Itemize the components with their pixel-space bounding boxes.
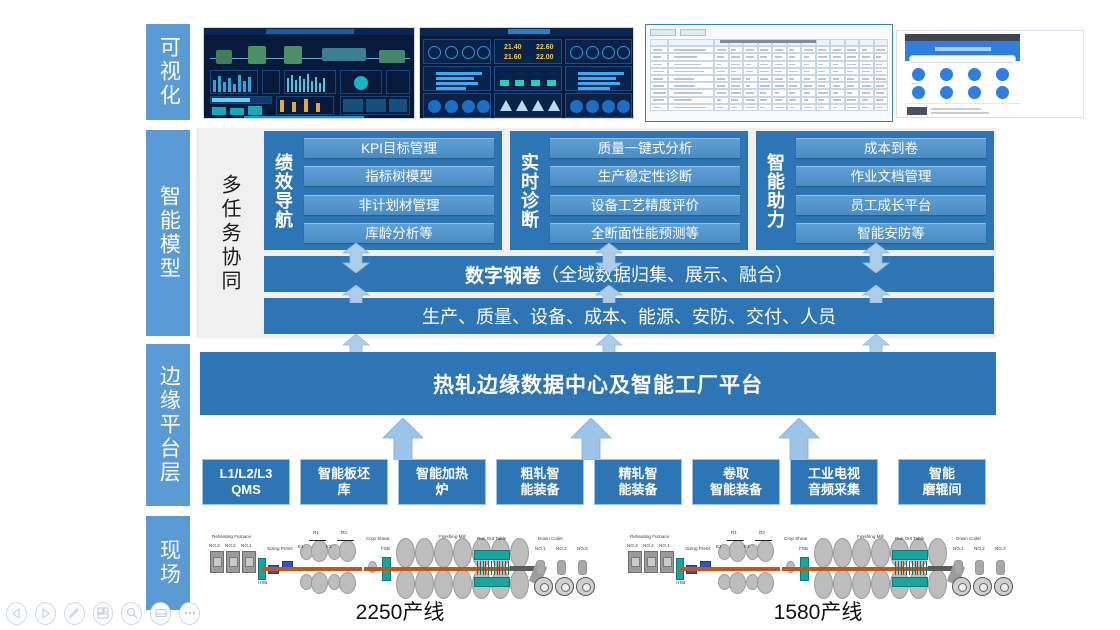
- table-cell: [816, 61, 831, 68]
- table-cell: [668, 82, 714, 89]
- arrow-up-equipment-2: [570, 418, 612, 460]
- previous-slide-button[interactable]: [6, 602, 27, 625]
- arrow-up-right-lower: [862, 334, 890, 354]
- table-cell: [816, 82, 831, 89]
- table-cell: [729, 82, 744, 89]
- rot-spray: [917, 561, 918, 575]
- table-cell: [801, 82, 816, 89]
- table-cell: [787, 89, 802, 96]
- table-cell: [830, 104, 845, 111]
- arrow-up-center-mid: [595, 285, 623, 303]
- line-label: Sizing Press: [685, 546, 711, 551]
- table-cell: [743, 53, 758, 60]
- rot-spray: [483, 561, 484, 575]
- equipment-label: 智能 磨辊间: [922, 466, 961, 499]
- table-cell: [714, 75, 729, 82]
- table-cell: [859, 104, 874, 111]
- table-cell: [801, 89, 816, 96]
- table-cell: [772, 53, 787, 60]
- rot-spray: [497, 561, 498, 575]
- table-cell: [668, 39, 714, 46]
- table-cell: [772, 89, 787, 96]
- table-cell: [743, 89, 758, 96]
- edge-platform-band[interactable]: 热轧边缘数据中心及智能工厂平台: [200, 352, 996, 415]
- finishing-stand-top: [852, 538, 871, 568]
- arrow-up-right-mid: [862, 285, 890, 303]
- table-cell: [772, 104, 787, 111]
- table-cell: [830, 61, 845, 68]
- table-cell: [650, 46, 668, 53]
- table-cell: [787, 82, 802, 89]
- thumb-web-portal[interactable]: [896, 30, 1084, 118]
- module-item[interactable]: 库龄分析等: [304, 223, 494, 243]
- table-cell: [874, 82, 889, 89]
- module-item[interactable]: 智能安防等: [796, 223, 986, 243]
- table-cell: [859, 46, 874, 53]
- table-cell: [830, 68, 845, 75]
- table-cell: [650, 68, 668, 75]
- table-title: [720, 40, 816, 43]
- finishing-stand-top: [510, 538, 529, 568]
- slide-root: 可视化 智能模型 边缘平台层 现场: [0, 0, 1120, 630]
- table-cell: [714, 61, 729, 68]
- equipment-box-industrial-tv[interactable]: 工业电视 音频采集: [790, 459, 878, 505]
- table-cell: [801, 46, 816, 53]
- table-cell: [668, 68, 714, 75]
- thumb-scada-overview[interactable]: [203, 27, 415, 119]
- finishing-stand-bot: [510, 569, 529, 599]
- table-cell: [668, 97, 714, 104]
- dimension-arrow: [309, 540, 326, 541]
- table-cell: [772, 46, 787, 53]
- table-cell: [845, 61, 860, 68]
- finishing-stand-top: [871, 538, 890, 568]
- table-cell: [874, 68, 889, 75]
- equipment-label: 工业电视 音频采集: [808, 466, 860, 499]
- table-cell: [787, 46, 802, 53]
- production-line-2250-caption: 2250产线: [300, 596, 500, 626]
- table-cell: [668, 61, 714, 68]
- coiler-guide: [536, 560, 545, 575]
- strip-r: [746, 567, 780, 571]
- finishing-stand-top: [434, 538, 453, 568]
- finishing-stand-bot: [852, 569, 871, 599]
- module-item[interactable]: KPI目标管理: [304, 138, 494, 158]
- table-cell: [743, 68, 758, 75]
- equipment-label: 智能加热 炉: [416, 466, 468, 499]
- furnace-door: [663, 557, 672, 567]
- table-cell: [859, 89, 874, 96]
- rot-spray: [909, 561, 910, 575]
- table-cell: [758, 89, 773, 96]
- coiler-guide: [996, 560, 1005, 575]
- equipment-label: L1/L2/L3 QMS: [220, 466, 273, 499]
- table-cell: [714, 82, 729, 89]
- run-out-table-bot: [892, 577, 928, 587]
- table-cell: [650, 82, 668, 89]
- table-cell: [772, 68, 787, 75]
- arrow-up-equipment-1: [382, 418, 424, 460]
- module-item[interactable]: 生产稳定性诊断: [550, 166, 740, 186]
- module-item-list: 质量一键式分析 生产稳定性诊断 设备工艺精度评价 全断面性能预测等: [544, 138, 740, 243]
- strip-a: [680, 567, 720, 571]
- furnace-door: [229, 557, 238, 567]
- digital-coil-subtitle: （全域数据归集、展示、融合）: [541, 261, 793, 287]
- table-cell: [729, 61, 744, 68]
- line-label: HSB: [258, 580, 267, 585]
- finishing-stand-bot: [833, 569, 852, 599]
- rot-spray: [920, 561, 921, 575]
- rot-spray: [480, 561, 481, 575]
- table-cell: [758, 46, 773, 53]
- rot-spray: [895, 561, 896, 575]
- line-label: FSB: [799, 546, 808, 551]
- line-label: Down Coiler: [956, 536, 981, 541]
- module-group-title: 绩效导航: [268, 138, 298, 243]
- rough-roll-bot: [757, 572, 774, 594]
- run-out-table-top: [474, 550, 510, 560]
- finishing-stand-bot: [415, 569, 434, 599]
- table-cell: [830, 82, 845, 89]
- table-cell: [650, 104, 668, 111]
- table-cell: [845, 53, 860, 60]
- table-cell: [830, 75, 845, 82]
- table-cell: [758, 75, 773, 82]
- strip-r: [328, 567, 362, 571]
- table-cell: [830, 46, 845, 53]
- rot-spray: [901, 561, 902, 575]
- rot-spray: [508, 561, 509, 575]
- table-cell: [758, 68, 773, 75]
- table-cell: [845, 75, 860, 82]
- table-cell: [859, 75, 874, 82]
- table-cell: [714, 68, 729, 75]
- table-cell: [816, 39, 831, 46]
- equipment-box-finish-rolling[interactable]: 精轧智 能装备: [594, 459, 682, 505]
- table-cell: [714, 97, 729, 104]
- line-label: Sizing Press: [267, 546, 293, 551]
- arrow-double-left: [342, 243, 370, 273]
- slide-grid-button[interactable]: [93, 602, 114, 625]
- table-cell: [859, 39, 874, 46]
- presentation-toolbar[interactable]: [0, 596, 200, 630]
- rot-spray: [477, 561, 478, 575]
- table-cell: [758, 61, 773, 68]
- table-cell: [772, 97, 787, 104]
- table-cell: [801, 61, 816, 68]
- steel-coil: [973, 577, 992, 596]
- table-cell: [874, 75, 889, 82]
- table-cell: [668, 75, 714, 82]
- layer-tab-visualization[interactable]: 可视化: [146, 24, 190, 120]
- table-cell: [874, 97, 889, 104]
- equipment-box-coiling[interactable]: 卷取 智能装备: [692, 459, 780, 505]
- module-group-smart-assist[interactable]: 智能助力 成本到卷 作业文档管理 员工成长平台 智能安防等: [756, 131, 994, 250]
- dimension-arrow: [727, 540, 744, 541]
- steel-coil: [555, 577, 574, 596]
- table-cell: [787, 104, 802, 111]
- finishing-stand-bot: [814, 569, 833, 599]
- rot-spray: [494, 561, 495, 575]
- thumb-kpi-dashboard[interactable]: 21.40 22.60 21.60 22.00: [419, 27, 634, 119]
- line-label: Finishing Mill: [439, 534, 466, 539]
- rot-spray: [903, 561, 904, 575]
- present-screen-button[interactable]: [150, 602, 171, 625]
- layer-tab-edge-platform[interactable]: 边缘平台层: [146, 344, 190, 506]
- rot-spray: [505, 561, 506, 575]
- table-cell: [668, 46, 714, 53]
- table-cell: [787, 53, 802, 60]
- table-cell: [668, 104, 714, 111]
- rot-spray: [491, 561, 492, 575]
- steel-coil: [576, 577, 595, 596]
- table-cell: [758, 97, 773, 104]
- domains-text: 生产、质量、设备、成本、能源、安防、交付、人员: [422, 303, 836, 329]
- production-line-1580-caption: 1580产线: [718, 596, 918, 626]
- module-item[interactable]: 非计划材管理: [304, 195, 494, 215]
- steel-coil: [534, 577, 553, 596]
- table-cell: [859, 82, 874, 89]
- module-item[interactable]: 指标树模型: [304, 166, 494, 186]
- finishing-stand-bot: [434, 569, 453, 599]
- kpi-metric-3: 21.60: [504, 54, 522, 61]
- rot-spray: [898, 561, 899, 575]
- arrow-up-equipment-3: [778, 418, 820, 460]
- table-cell: [729, 68, 744, 75]
- line-label: NO.1: [535, 546, 546, 551]
- module-item[interactable]: 全断面性能预测等: [550, 223, 740, 243]
- line-label: NO.1: [659, 543, 670, 548]
- table-cell: [830, 39, 845, 46]
- steel-coil: [952, 577, 971, 596]
- pen-tool-button[interactable]: [64, 602, 85, 625]
- module-item-list: KPI目标管理 指标树模型 非计划材管理 库龄分析等: [298, 138, 494, 243]
- line-label: NO.1: [241, 543, 252, 548]
- rot-spray: [926, 561, 927, 575]
- table-cell: [801, 97, 816, 104]
- finishing-stand-bot: [396, 569, 415, 599]
- line-label: Crop Shear: [784, 536, 808, 541]
- rot-spray: [912, 561, 913, 575]
- line-label: Finishing Mill: [857, 534, 884, 539]
- table-cell: [830, 89, 845, 96]
- line-label: Crop Shear: [366, 536, 390, 541]
- line-label: NO.2: [225, 543, 236, 548]
- layer-tab-smart-model[interactable]: 智能模型: [146, 130, 190, 336]
- table-cell: [743, 104, 758, 111]
- table-cell: [758, 82, 773, 89]
- table-cell: [758, 104, 773, 111]
- table-cell: [668, 53, 714, 60]
- table-cell: [874, 89, 889, 96]
- coiler-guide: [975, 560, 984, 575]
- table-cell: [816, 68, 831, 75]
- table-cell: [650, 39, 668, 46]
- equipment-box-l123-qms[interactable]: L1/L2/L3 QMS: [202, 459, 290, 505]
- table-cell: [845, 104, 860, 111]
- furnace-door: [647, 557, 656, 567]
- table-cell: [816, 53, 831, 60]
- line-label: R1: [731, 530, 737, 535]
- table-cell: [743, 97, 758, 104]
- table-cell: [714, 46, 729, 53]
- table-cell: [714, 53, 729, 60]
- table-cell: [816, 46, 831, 53]
- table-cell: [816, 97, 831, 104]
- line-label: E2: [326, 544, 332, 549]
- line-label: NO.3: [577, 546, 588, 551]
- table-cell: [743, 82, 758, 89]
- line-label: Run Out Table: [895, 536, 924, 541]
- finishing-stand-bot: [928, 569, 947, 599]
- furnace-door: [213, 557, 222, 567]
- multi-task-label: 多任务协同: [207, 138, 251, 330]
- line-label: NO.2: [974, 546, 985, 551]
- strip-a: [262, 567, 302, 571]
- table-cell: [787, 97, 802, 104]
- run-out-table-top: [892, 550, 928, 560]
- domains-band[interactable]: 生产、质量、设备、成本、能源、安防、交付、人员: [264, 298, 994, 334]
- arrow-double-right: [862, 243, 890, 273]
- table-cell: [787, 75, 802, 82]
- rough-roll-bot: [311, 572, 328, 594]
- rot-spray: [923, 561, 924, 575]
- table-cell: [874, 61, 889, 68]
- table-cell: [729, 104, 744, 111]
- table-cell: [743, 75, 758, 82]
- line-label: NO.2: [556, 546, 567, 551]
- digital-coil-title: 数字钢卷: [465, 261, 541, 288]
- table-cell: [668, 89, 714, 96]
- furnace-door: [631, 557, 640, 567]
- finishing-stand-bot: [871, 569, 890, 599]
- module-item[interactable]: 质量一键式分析: [550, 138, 740, 158]
- table-cell: [874, 39, 889, 46]
- module-item[interactable]: 设备工艺精度评价: [550, 195, 740, 215]
- line-label: Reheating Furnace: [212, 534, 251, 539]
- table-cell: [874, 104, 889, 111]
- next-slide-button[interactable]: [35, 602, 56, 625]
- table-cell: [714, 89, 729, 96]
- more-options-button[interactable]: [179, 602, 200, 625]
- rough-roll-top: [339, 540, 356, 562]
- table-cell: [845, 89, 860, 96]
- equipment-box-smart-furnace[interactable]: 智能加热 炉: [398, 459, 486, 505]
- finishing-stand-top: [814, 538, 833, 568]
- thumb-evaluation-table[interactable]: [645, 24, 893, 122]
- table-cell: [801, 68, 816, 75]
- coiler-guide: [578, 560, 587, 575]
- table-cell: [816, 104, 831, 111]
- table-cell: [650, 75, 668, 82]
- module-item[interactable]: 作业文档管理: [796, 166, 986, 186]
- finishing-stand-top: [453, 538, 472, 568]
- module-group-title: 智能助力: [760, 138, 790, 243]
- rough-roll-top: [757, 540, 774, 562]
- equipment-box-rough-rolling[interactable]: 粗轧智 能装备: [496, 459, 584, 505]
- line-label: Reheating Furnace: [630, 534, 669, 539]
- line-label: E1: [716, 544, 722, 549]
- finishing-stand-top: [928, 538, 947, 568]
- rot-spray: [906, 561, 907, 575]
- equipment-label: 精轧智 能装备: [618, 466, 657, 499]
- equipment-label: 粗轧智 能装备: [520, 466, 559, 499]
- table-cell: [816, 89, 831, 96]
- table-cell: [874, 53, 889, 60]
- table-cell: [650, 89, 668, 96]
- module-group-title: 实时诊断: [514, 138, 544, 243]
- production-line-1580[interactable]: Reheating FurnaceNO.3NO.2NO.1Sizing Pres…: [614, 516, 1014, 608]
- table-cell: [729, 46, 744, 53]
- module-group-realtime-diagnosis[interactable]: 实时诊断 质量一键式分析 生产稳定性诊断 设备工艺精度评价 全断面性能预测等: [510, 131, 748, 250]
- line-label: Down Coiler: [538, 536, 563, 541]
- line-label: Run Out Table: [477, 536, 506, 541]
- line-label: NO.3: [627, 543, 638, 548]
- module-item[interactable]: 员工成长平台: [796, 195, 986, 215]
- line-label: NO.3: [995, 546, 1006, 551]
- line-label: R2: [759, 530, 765, 535]
- table-cell: [772, 75, 787, 82]
- run-out-table-bot: [474, 577, 510, 587]
- table-cell: [758, 53, 773, 60]
- equipment-box-roll-grinding[interactable]: 智能 磨辊间: [898, 459, 986, 505]
- line-label: HSB: [676, 580, 685, 585]
- equipment-box-smart-slab-yard[interactable]: 智能板坯 库: [300, 459, 388, 505]
- rough-roll-bot: [339, 572, 356, 594]
- table-cell: [845, 46, 860, 53]
- table-cell: [787, 61, 802, 68]
- steel-coil: [994, 577, 1013, 596]
- zoom-tool-button[interactable]: [121, 602, 142, 625]
- rot-spray: [488, 561, 489, 575]
- edge-platform-band-label: 热轧边缘数据中心及智能工厂平台: [433, 369, 763, 399]
- finishing-stand-top: [396, 538, 415, 568]
- table-cell: [845, 97, 860, 104]
- table-cell: [845, 68, 860, 75]
- equipment-label: 卷取 智能装备: [710, 466, 762, 499]
- line-label: E2: [744, 544, 750, 549]
- rough-roll-bot: [729, 572, 746, 594]
- table-cell: [845, 82, 860, 89]
- table-cell: [859, 61, 874, 68]
- coiler-guide: [954, 560, 963, 575]
- module-group-performance-navigation[interactable]: 绩效导航 KPI目标管理 指标树模型 非计划材管理 库龄分析等: [264, 131, 502, 250]
- arrow-up-center-lower: [595, 334, 623, 354]
- table-cell: [874, 46, 889, 53]
- table-cell: [772, 82, 787, 89]
- table-cell: [830, 53, 845, 60]
- table-cell: [729, 75, 744, 82]
- table-cell: [859, 68, 874, 75]
- production-line-2250[interactable]: Reheating FurnaceNO.3NO.2NO.1Sizing Pres…: [196, 516, 596, 608]
- line-label: R1: [313, 530, 319, 535]
- finishing-stand-bot: [453, 569, 472, 599]
- kpi-metric-1: 21.40: [504, 44, 522, 51]
- table-cell: [743, 61, 758, 68]
- table-cell: [729, 89, 744, 96]
- table-cell: [743, 46, 758, 53]
- table-cell: [729, 97, 744, 104]
- table-cell: [859, 97, 874, 104]
- table-cell: [830, 97, 845, 104]
- table-cell: [845, 39, 860, 46]
- table-cell: [816, 75, 831, 82]
- kpi-metric-2: 22.60: [536, 44, 554, 51]
- table-cell: [714, 104, 729, 111]
- module-item[interactable]: 成本到卷: [796, 138, 986, 158]
- rot-spray: [502, 561, 503, 575]
- table-cell: [650, 53, 668, 60]
